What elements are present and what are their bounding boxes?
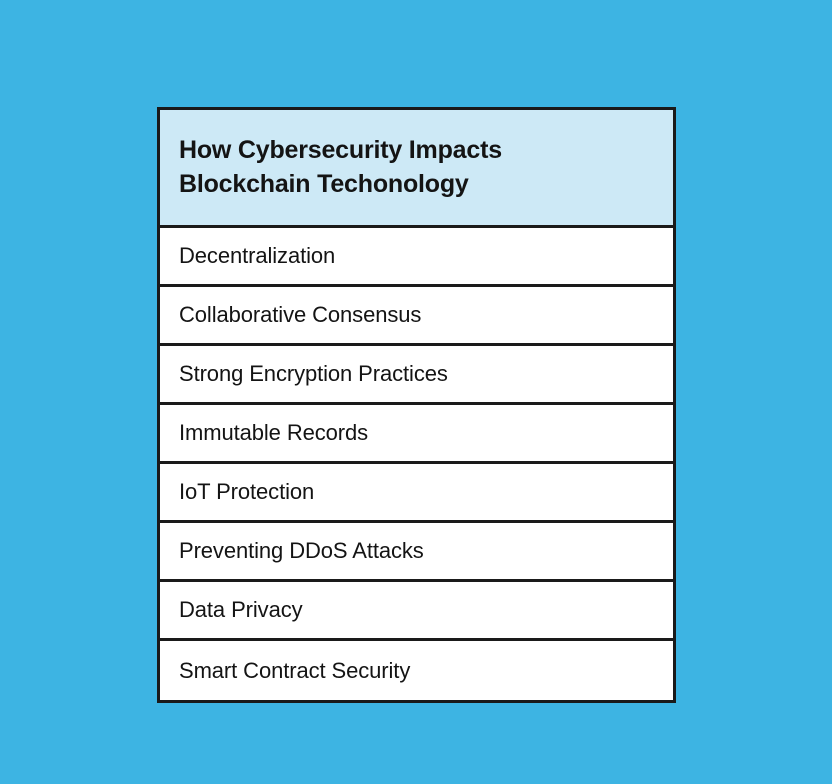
table-row: Strong Encryption Practices	[160, 346, 673, 405]
table-row: Decentralization	[160, 228, 673, 287]
page-title: How Cybersecurity Impacts Blockchain Tec…	[179, 133, 653, 201]
table-row-label-strong-encryption-practices: Strong Encryption Practices	[179, 360, 448, 388]
table-row-label-iot-protection: IoT Protection	[179, 478, 314, 506]
table-row: Immutable Records	[160, 405, 673, 464]
table-row-label-data-privacy: Data Privacy	[179, 596, 303, 624]
table-row: IoT Protection	[160, 464, 673, 523]
table-row-label-smart-contract-security: Smart Contract Security	[179, 657, 410, 685]
table-row: Data Privacy	[160, 582, 673, 641]
table-row: Preventing DDoS Attacks	[160, 523, 673, 582]
cybersecurity-blockchain-table: How Cybersecurity Impacts Blockchain Tec…	[157, 107, 676, 703]
table-row: Smart Contract Security	[160, 641, 673, 700]
table-header-cell: How Cybersecurity Impacts Blockchain Tec…	[160, 110, 673, 228]
table-row-label-decentralization: Decentralization	[179, 242, 335, 270]
table-row-label-collaborative-consensus: Collaborative Consensus	[179, 301, 421, 329]
table-row: Collaborative Consensus	[160, 287, 673, 346]
table-row-label-immutable-records: Immutable Records	[179, 419, 368, 447]
table-row-label-preventing-ddos-attacks: Preventing DDoS Attacks	[179, 537, 424, 565]
page-canvas: How Cybersecurity Impacts Blockchain Tec…	[0, 0, 832, 784]
